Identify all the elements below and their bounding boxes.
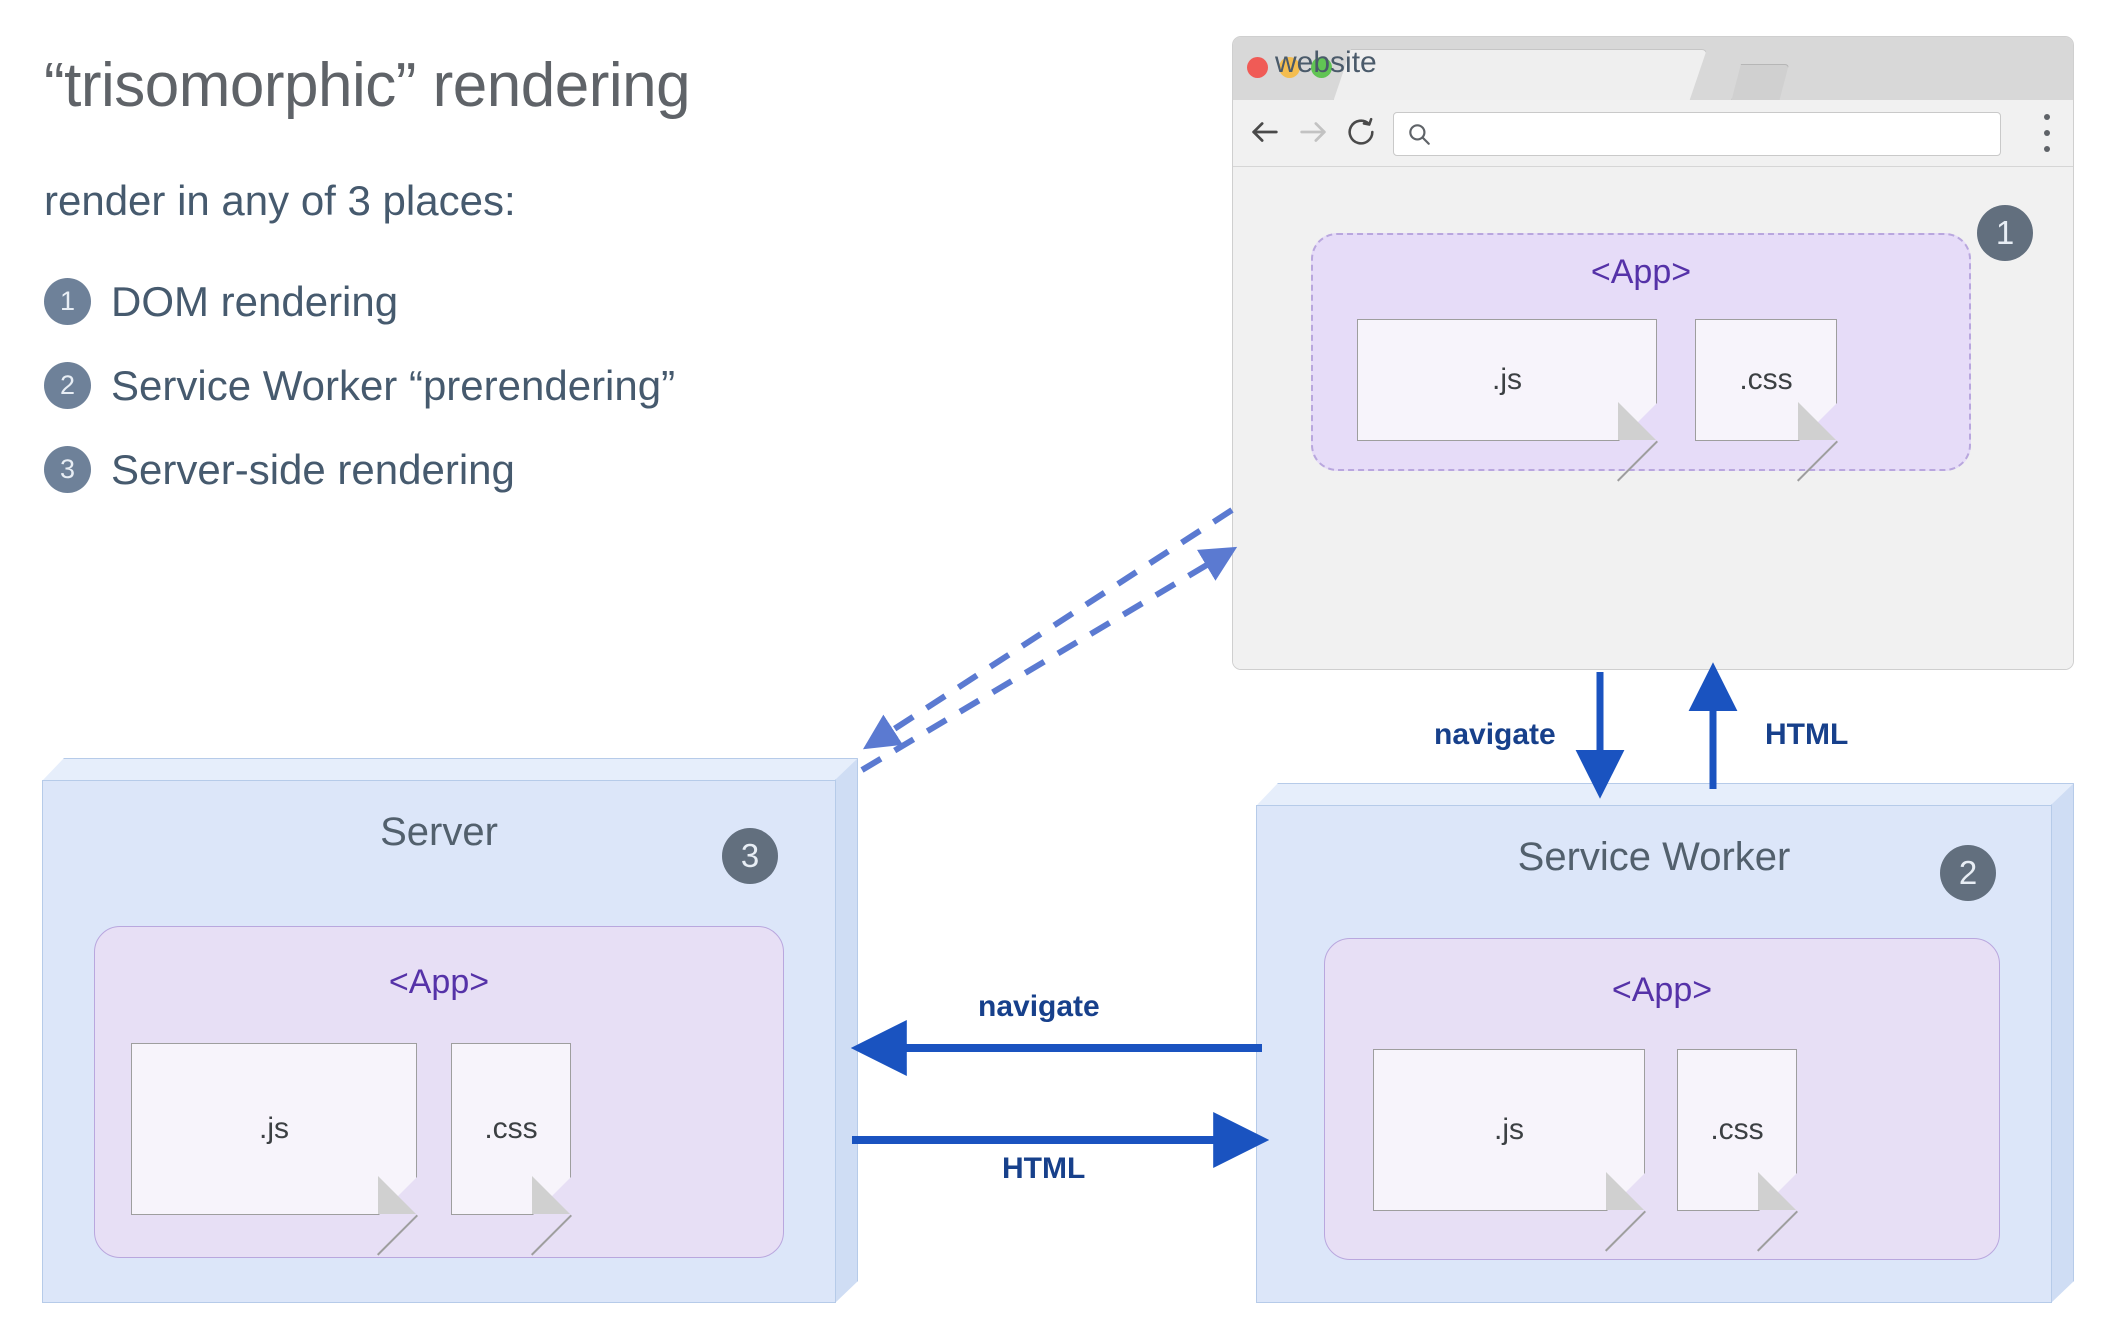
server-box-right-face	[835, 758, 858, 1303]
new-tab-icon[interactable]	[1731, 64, 1789, 102]
file-label: .js	[132, 1112, 416, 1146]
option-label: Service Worker “prerendering”	[111, 362, 675, 410]
file-label: .js	[1358, 363, 1656, 397]
css-file-icon: .css	[1677, 1049, 1797, 1211]
css-file-icon: .css	[1695, 319, 1837, 441]
rendering-options-list: 1 DOM rendering 2 Service Worker “preren…	[44, 271, 1104, 501]
js-file-icon: .js	[1357, 319, 1657, 441]
server-title: Server	[42, 810, 836, 855]
service-worker-title: Service Worker	[1256, 835, 2052, 880]
browser-viewport: 1 <App> .js .css	[1233, 167, 2073, 669]
app-container-service-worker: <App> .js .css	[1324, 938, 2000, 1260]
back-arrow-icon[interactable]	[1247, 114, 1283, 150]
status-badge: 2	[1940, 845, 1996, 901]
server-box: Server 3 <App> .js .css	[42, 758, 858, 1303]
address-bar[interactable]	[1393, 112, 2001, 156]
service-worker-box: Service Worker 2 <App> .js .css	[1256, 783, 2074, 1303]
js-file-icon: .js	[131, 1043, 417, 1215]
option-label: DOM rendering	[111, 278, 398, 326]
app-label: <App>	[1313, 253, 1969, 292]
option-label: Server-side rendering	[111, 446, 515, 494]
file-label: .css	[452, 1112, 570, 1146]
browser-window: website 1	[1232, 36, 2074, 670]
label-navigate-sw-server: navigate	[978, 990, 1100, 1024]
browser-toolbar	[1233, 100, 2073, 167]
sw-box-top-face	[1256, 783, 2074, 806]
app-container-server: <App> .js .css	[94, 926, 784, 1258]
overflow-menu-icon[interactable]	[2043, 114, 2051, 152]
forward-arrow-icon[interactable]	[1295, 114, 1331, 150]
status-badge: 3	[722, 828, 778, 884]
browser-tab[interactable]	[1333, 49, 1707, 102]
server-box-top-face	[42, 758, 858, 781]
label-html-server-sw: HTML	[1002, 1152, 1085, 1186]
app-container-browser: <App> .js .css	[1311, 233, 1971, 471]
browser-tab-title: website	[1275, 46, 1377, 80]
option-number-badge: 2	[44, 362, 91, 409]
sw-box-right-face	[2051, 783, 2074, 1303]
app-label: <App>	[95, 963, 783, 1002]
file-label: .css	[1696, 363, 1836, 397]
dashed-arrow-up	[862, 550, 1232, 770]
option-number-badge: 3	[44, 446, 91, 493]
file-label: .css	[1678, 1113, 1796, 1147]
app-label: <App>	[1325, 971, 1999, 1010]
list-item: 2 Service Worker “prerendering”	[44, 355, 1104, 417]
dashed-arrow-down	[868, 510, 1232, 746]
arrow-server-to-browser-dashed	[862, 1068, 1228, 1090]
search-icon	[1406, 121, 1432, 147]
browser-tab-strip: website	[1233, 37, 2073, 101]
reload-icon[interactable]	[1343, 114, 1379, 150]
close-window-icon[interactable]	[1247, 57, 1268, 78]
page-subtitle: render in any of 3 places:	[44, 176, 1104, 226]
status-badge: 1	[1977, 205, 2033, 261]
option-number-badge: 1	[44, 278, 91, 325]
list-item: 1 DOM rendering	[44, 271, 1104, 333]
page-title: “trisomorphic” rendering	[44, 52, 1104, 120]
intro-text-column: “trisomorphic” rendering render in any o…	[44, 52, 1104, 523]
label-navigate-browser-sw: navigate	[1434, 718, 1556, 752]
list-item: 3 Server-side rendering	[44, 439, 1104, 501]
address-bar-input[interactable]	[1442, 113, 1992, 157]
label-html-sw-browser: HTML	[1765, 718, 1848, 752]
file-label: .js	[1374, 1113, 1644, 1147]
js-file-icon: .js	[1373, 1049, 1645, 1211]
css-file-icon: .css	[451, 1043, 571, 1215]
